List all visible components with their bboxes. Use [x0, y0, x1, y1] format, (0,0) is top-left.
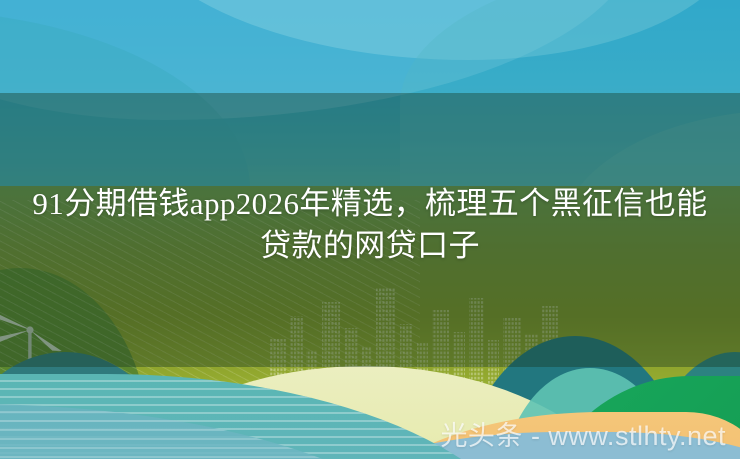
wave-stripe-pattern-secondary	[0, 404, 460, 459]
skyline-building	[469, 298, 484, 386]
striped-teal-wave-secondary	[0, 404, 460, 459]
article-cover-banner: 91分期借钱app2026年精选，梳理五个黑征信也能贷款的网贷口子 光头条 - …	[0, 0, 740, 459]
title-container: 91分期借钱app2026年精选，梳理五个黑征信也能贷款的网贷口子	[0, 183, 740, 267]
page-title: 91分期借钱app2026年精选，梳理五个黑征信也能贷款的网贷口子	[22, 183, 718, 267]
